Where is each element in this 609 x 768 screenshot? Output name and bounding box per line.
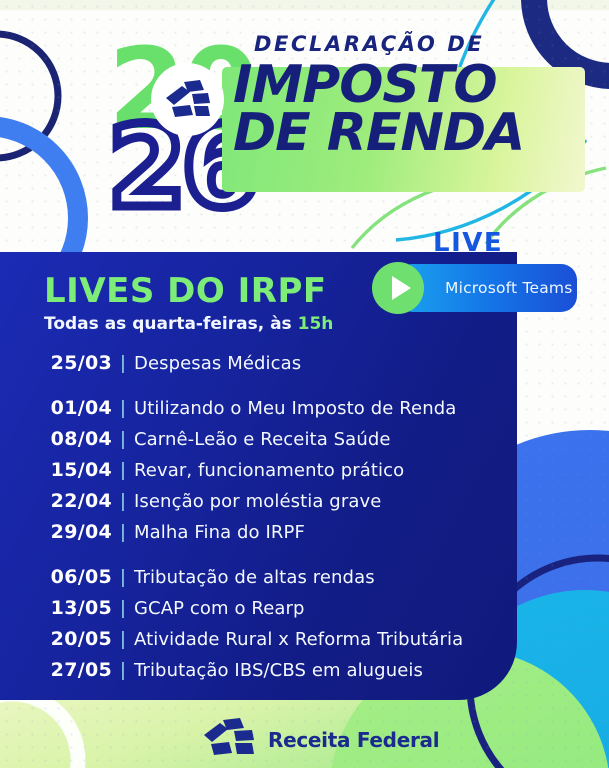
schedule-group-março: 25/03|Despesas Médicas <box>0 352 517 383</box>
poster-header: 20 26 DECLARAÇÃO DE IMPOSTO DE RENDA <box>0 0 609 258</box>
play-icon[interactable] <box>372 262 424 314</box>
schedule-topic: Tributação IBS/CBS em alugueis <box>134 660 423 681</box>
microsoft-teams-badge[interactable]: Microsoft Teams <box>397 264 577 312</box>
schedule-separator: | <box>112 660 134 682</box>
schedule-separator: | <box>112 629 134 651</box>
schedule-topic: Carnê-Leão e Receita Saúde <box>134 429 391 450</box>
live-label: LIVE <box>433 228 503 258</box>
schedule-date: 01/04 <box>0 397 112 419</box>
schedule-row: 15/04|Revar, funcionamento prático <box>0 459 517 490</box>
schedule-topic: Isenção por moléstia grave <box>134 491 381 512</box>
schedule-list: 25/03|Despesas Médicas01/04|Utilizando o… <box>0 352 517 690</box>
schedule-separator: | <box>112 522 134 544</box>
schedule-row: 06/05|Tributação de altas rendas <box>0 566 517 597</box>
schedule-date: 29/04 <box>0 521 112 543</box>
schedule-row: 29/04|Malha Fina do IRPF <box>0 521 517 552</box>
eyebrow-text: DECLARAÇÃO DE <box>254 32 484 56</box>
schedule-separator: | <box>112 567 134 589</box>
schedule-topic: Tributação de altas rendas <box>134 567 375 588</box>
schedule-group-maio: 06/05|Tributação de altas rendas13/05|GC… <box>0 566 517 690</box>
footer-brand: Receita Federal <box>202 716 439 763</box>
panel-title: LIVES DO IRPF <box>44 271 327 311</box>
schedule-topic: Revar, funcionamento prático <box>134 460 404 481</box>
teams-label: Microsoft Teams <box>445 279 573 297</box>
schedule-topic: Utilizando o Meu Imposto de Renda <box>134 398 456 419</box>
schedule-panel-content: LIVES DO IRPF Todas as quarta-feiras, às… <box>0 252 517 700</box>
schedule-group-abril: 01/04|Utilizando o Meu Imposto de Renda0… <box>0 397 517 552</box>
schedule-row: 20/05|Atividade Rural x Reforma Tributár… <box>0 628 517 659</box>
schedule-date: 25/03 <box>0 352 112 374</box>
page-title: IMPOSTO DE RENDA <box>233 62 524 158</box>
receita-federal-logo-icon <box>202 716 260 763</box>
schedule-separator: | <box>112 353 134 375</box>
receita-federal-seal-icon <box>151 63 224 136</box>
title-line-2: DE RENDA <box>233 110 524 158</box>
schedule-row: 25/03|Despesas Médicas <box>0 352 517 383</box>
schedule-separator: | <box>112 491 134 513</box>
schedule-row: 13/05|GCAP com o Rearp <box>0 597 517 628</box>
schedule-date: 20/05 <box>0 628 112 650</box>
schedule-separator: | <box>112 398 134 420</box>
schedule-date: 15/04 <box>0 459 112 481</box>
panel-subtitle: Todas as quarta-feiras, às 15h <box>44 314 333 334</box>
schedule-date: 08/04 <box>0 428 112 450</box>
schedule-separator: | <box>112 598 134 620</box>
footer-brand-label: Receita Federal <box>268 728 439 752</box>
schedule-separator: | <box>112 429 134 451</box>
schedule-topic: GCAP com o Rearp <box>134 598 305 619</box>
schedule-date: 22/04 <box>0 490 112 512</box>
panel-subtitle-prefix: Todas as quarta-feiras, às <box>44 314 298 334</box>
schedule-separator: | <box>112 460 134 482</box>
schedule-topic: Malha Fina do IRPF <box>134 522 305 543</box>
schedule-topic: Despesas Médicas <box>134 353 301 374</box>
schedule-date: 06/05 <box>0 566 112 588</box>
schedule-row: 01/04|Utilizando o Meu Imposto de Renda <box>0 397 517 428</box>
panel-subtitle-time: 15h <box>298 314 334 334</box>
schedule-topic: Atividade Rural x Reforma Tributária <box>134 629 463 650</box>
poster-canvas: 20 26 DECLARAÇÃO DE IMPOSTO DE RENDA LIV… <box>0 0 609 768</box>
schedule-row: 27/05|Tributação IBS/CBS em alugueis <box>0 659 517 690</box>
schedule-row: 08/04|Carnê-Leão e Receita Saúde <box>0 428 517 459</box>
schedule-date: 27/05 <box>0 659 112 681</box>
schedule-row: 22/04|Isenção por moléstia grave <box>0 490 517 521</box>
play-triangle <box>392 276 411 300</box>
schedule-date: 13/05 <box>0 597 112 619</box>
